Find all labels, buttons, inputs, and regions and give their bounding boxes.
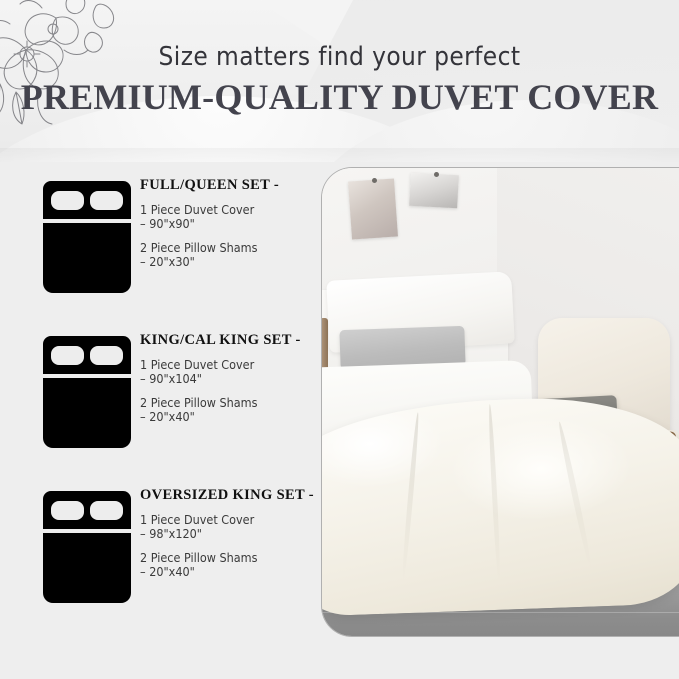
- spec-item-1-size: – 90"x90": [140, 217, 330, 232]
- spec-text-group: OVERSIZED KING SET - 1 Piece Duvet Cover…: [140, 488, 330, 589]
- bed-mattress-shape: [43, 223, 131, 293]
- bed-mattress-shape: [43, 533, 131, 603]
- spec-item-1: 1 Piece Duvet Cover: [140, 358, 330, 373]
- bed-pillow-right-shape: [90, 501, 123, 520]
- wall-photo-2: [409, 173, 459, 208]
- spec-item-2-size: – 20"x40": [140, 565, 330, 580]
- wall-photo-1-pin: [372, 178, 377, 183]
- bed-pillow-right-shape: [90, 346, 123, 365]
- spec-item-1: 1 Piece Duvet Cover: [140, 513, 330, 528]
- spec-block-oversized-king: OVERSIZED KING SET - 1 Piece Duvet Cover…: [40, 488, 320, 613]
- spec-item-1-size: – 98"x120": [140, 527, 330, 542]
- spec-item-2-size: – 20"x40": [140, 410, 330, 425]
- bed-mattress-shape: [43, 378, 131, 448]
- spec-title: OVERSIZED KING SET -: [140, 488, 330, 504]
- spec-block-king-cal-king: KING/CAL KING SET - 1 Piece Duvet Cover …: [40, 333, 320, 458]
- spec-item-2: 2 Piece Pillow Shams: [140, 396, 330, 411]
- bed-icon: [43, 491, 131, 603]
- product-infographic: Size matters find your perfect PREMIUM-Q…: [0, 0, 679, 679]
- bed-icon: [43, 181, 131, 293]
- cream-duvet-cover: [322, 393, 679, 617]
- spec-title: FULL/QUEEN SET -: [140, 178, 330, 194]
- spec-item-1: 1 Piece Duvet Cover: [140, 203, 330, 218]
- bed-icon: [43, 336, 131, 448]
- spec-title: KING/CAL KING SET -: [140, 333, 330, 349]
- spec-text-group: FULL/QUEEN SET - 1 Piece Duvet Cover – 9…: [140, 178, 330, 279]
- bed-headboard-shape: [43, 336, 131, 374]
- spec-item-2: 2 Piece Pillow Shams: [140, 551, 330, 566]
- spec-item-2-size: – 20"x30": [140, 255, 330, 270]
- spec-block-full-queen: FULL/QUEEN SET - 1 Piece Duvet Cover – 9…: [40, 178, 320, 303]
- wall-photo-1: [348, 178, 398, 239]
- bed-pillow-left-shape: [51, 501, 84, 520]
- bed-headboard-shape: [43, 181, 131, 219]
- bed-headboard-shape: [43, 491, 131, 529]
- header-subtitle: Size matters find your perfect: [0, 42, 679, 72]
- wall-photo-2-pin: [434, 172, 439, 177]
- header-banner: Size matters find your perfect PREMIUM-Q…: [0, 0, 679, 162]
- spec-text-group: KING/CAL KING SET - 1 Piece Duvet Cover …: [140, 333, 330, 434]
- header-divider-shadow: [0, 148, 679, 162]
- spec-item-1-size: – 90"x104": [140, 372, 330, 387]
- bed-pillow-right-shape: [90, 191, 123, 210]
- page-title: PREMIUM-QUALITY DUVET COVER: [0, 76, 679, 118]
- bed-pillow-left-shape: [51, 191, 84, 210]
- spec-item-2: 2 Piece Pillow Shams: [140, 241, 330, 256]
- bed-pillow-left-shape: [51, 346, 84, 365]
- bedroom-lifestyle-photo: [322, 168, 679, 636]
